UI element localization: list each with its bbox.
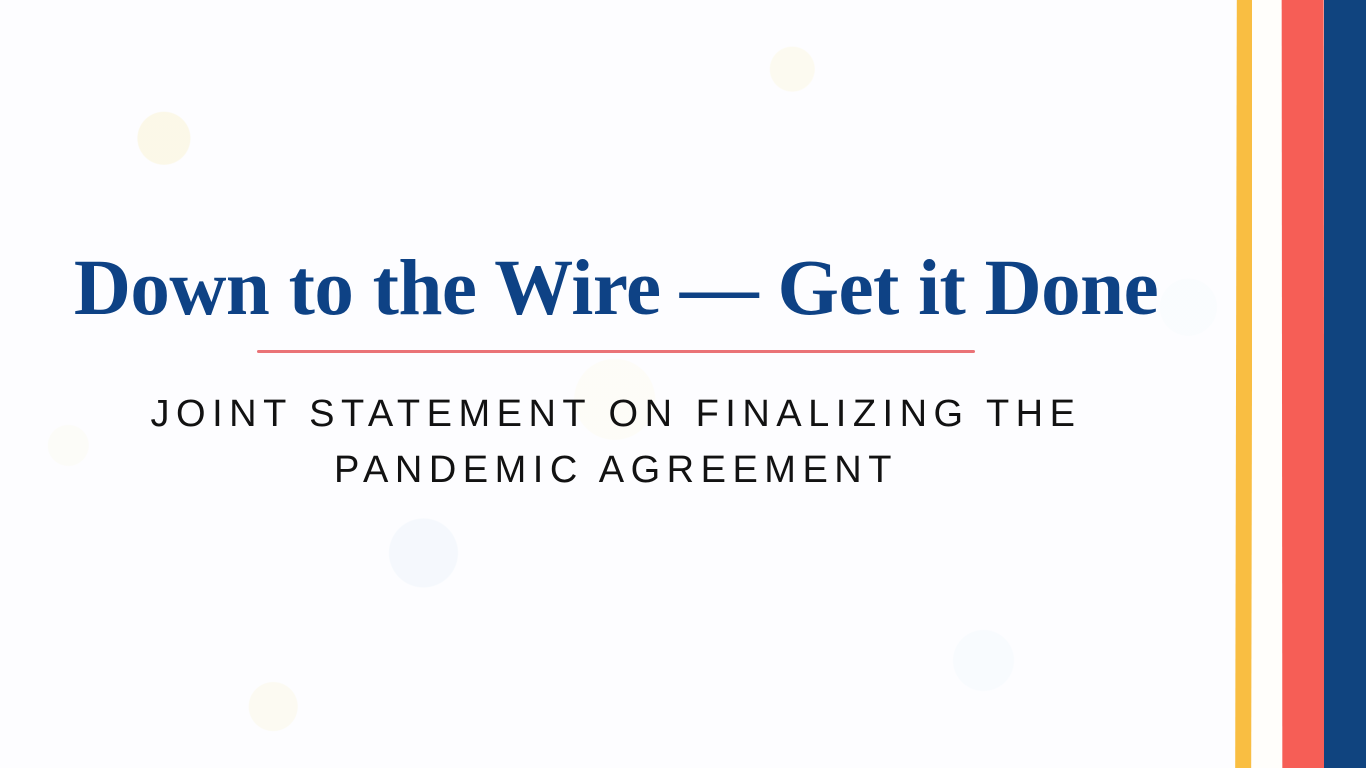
edge-bar-red [1282, 0, 1325, 768]
decorative-edge-bars [1232, 0, 1366, 768]
edge-bar-navy [1324, 0, 1366, 768]
edge-bar-gold [1235, 0, 1253, 768]
presentation-slide: Down to the Wire — Get it Done JOINT STA… [0, 0, 1366, 768]
slide-content: Down to the Wire — Get it Done JOINT STA… [0, 0, 1232, 768]
slide-title: Down to the Wire — Get it Done [74, 248, 1158, 330]
title-divider-rule [257, 350, 975, 353]
edge-bar-white [1252, 0, 1282, 768]
slide-subtitle: JOINT STATEMENT ON FINALIZING THE PANDEM… [111, 387, 1121, 497]
